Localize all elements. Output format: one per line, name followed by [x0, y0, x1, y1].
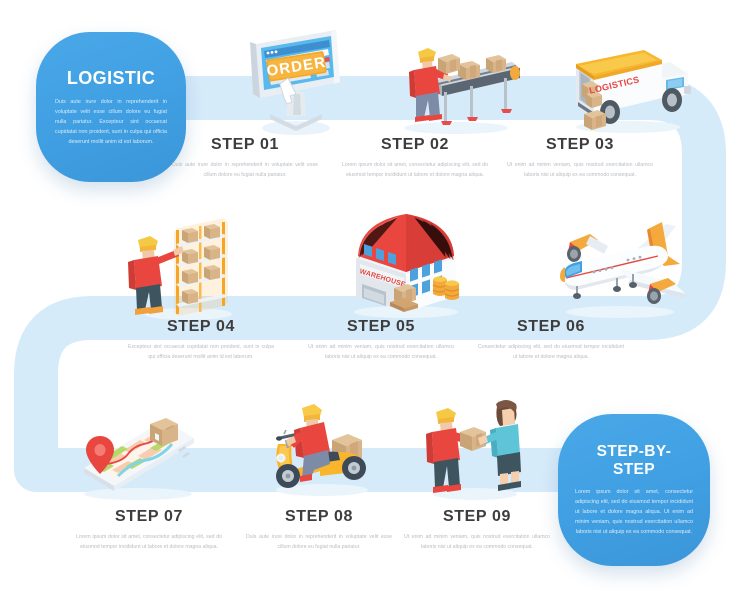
step-07[interactable]: STEP 07 Lorem ipsum dolor sit amet, cons… [64, 508, 234, 552]
step-08[interactable]: STEP 08 Duis aute irure dolor in reprehe… [234, 508, 404, 552]
step-by-step-card-body: Lorem ipsum dolor sit amet, consectetur … [575, 487, 693, 537]
step-04-title: STEP 04 [116, 318, 286, 336]
step-01-description: Duis aute irure dolor in reprehenderit i… [160, 160, 330, 180]
step-by-step-card[interactable]: STEP-BY-STEP Lorem ipsum dolor sit amet,… [558, 414, 710, 566]
courier-handover-customer-icon [420, 378, 530, 504]
desktop-monitor-order-icon: ORDER [236, 20, 352, 138]
step-05-description: Ut enim ad minim veniam, quis nostrud ex… [296, 342, 466, 362]
step-06-description: Consectetur adipiscing elit, sed do eius… [466, 342, 636, 362]
delivery-truck-icon: LOGISTICS [558, 22, 696, 142]
step-02-description: Lorem ipsum dolor sit amet, consectetur … [330, 160, 500, 180]
step-08-title: STEP 08 [234, 508, 404, 526]
step-03[interactable]: STEP 03 Ut enim ad minim veniam, quis no… [495, 136, 665, 180]
step-by-step-card-title: STEP-BY-STEP [578, 443, 690, 479]
step-09-description: Ut enim ad minim veniam, quis nostrud ex… [392, 532, 562, 552]
step-07-description: Lorem ipsum dolor sit amet, consectetur … [64, 532, 234, 552]
step-02[interactable]: STEP 02 Lorem ipsum dolor sit amet, cons… [330, 136, 500, 180]
step-08-description: Duis aute irure dolor in reprehenderit i… [234, 532, 404, 552]
infographic-canvas: LOGISTIC Duis aute irure dolor in repreh… [0, 0, 740, 592]
step-03-description: Ut enim ad minim veniam, quis nostrud ex… [495, 160, 665, 180]
step-09-title: STEP 09 [392, 508, 562, 526]
logistic-card-body: Duis aute irure dolor in reprehenderit i… [55, 97, 167, 147]
smartphone-map-tracking-icon [66, 398, 208, 508]
step-05[interactable]: STEP 05 Ut enim ad minim veniam, quis no… [296, 318, 466, 362]
step-05-title: STEP 05 [296, 318, 466, 336]
warehouse-shelf-worker-icon [126, 210, 246, 322]
delivery-scooter-icon [258, 390, 384, 502]
step-07-title: STEP 07 [64, 508, 234, 526]
step-03-title: STEP 03 [495, 136, 665, 154]
warehouse-building-icon: WAREHOUSE [336, 208, 476, 324]
step-04[interactable]: STEP 04 Excepteur sint occaecat cupidata… [116, 318, 286, 362]
step-01[interactable]: STEP 01 Duis aute irure dolor in reprehe… [160, 136, 330, 180]
cargo-airplane-icon [546, 212, 698, 324]
step-01-title: STEP 01 [160, 136, 330, 154]
logistic-card-title: LOGISTIC [67, 68, 155, 89]
step-09[interactable]: STEP 09 Ut enim ad minim veniam, quis no… [392, 508, 562, 552]
step-06[interactable]: STEP 06 Consectetur adipiscing elit, sed… [466, 318, 636, 362]
step-02-title: STEP 02 [330, 136, 500, 154]
step-04-description: Excepteur sint occaecat cupidatat non pr… [116, 342, 286, 362]
conveyor-belt-worker-icon [386, 18, 526, 138]
step-06-title: STEP 06 [466, 318, 636, 336]
